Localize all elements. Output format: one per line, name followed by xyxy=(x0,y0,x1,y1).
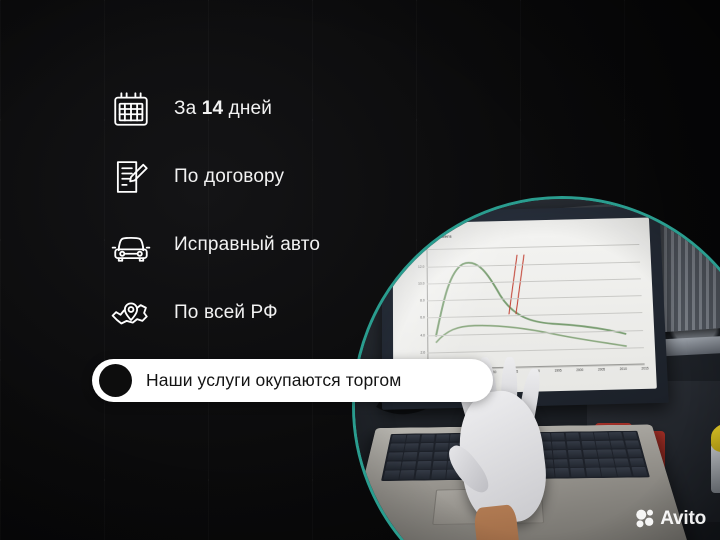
chart-x-tick: 2000 xyxy=(576,369,583,373)
feature-label-condition: Исправный авто xyxy=(174,234,320,256)
feature-item-term: За 14 дней xyxy=(110,88,320,130)
car-front-icon xyxy=(110,224,152,266)
chart-y-tick: 14.0 xyxy=(417,248,424,252)
feature-label-contract: По договору xyxy=(174,166,284,188)
avito-dots-icon xyxy=(635,508,655,528)
avito-logo: Avito xyxy=(635,508,706,528)
bullet-dot-icon xyxy=(99,364,132,397)
chart-x-tick: 2005 xyxy=(598,368,605,372)
feature-label-term: За 14 дней xyxy=(174,98,272,120)
chart-y-tick: 10.0 xyxy=(418,282,425,286)
calendar-icon xyxy=(110,88,152,130)
status-badge: Наши услуги окупаются торгом xyxy=(92,359,493,402)
chart-y-tick: 8.0 xyxy=(420,299,425,303)
chart-x-tick: 1995 xyxy=(554,369,561,373)
chart-y-tick: 12.0 xyxy=(418,265,425,269)
chart-y-tick: 6.0 xyxy=(420,316,425,320)
chart-x-tick: 2010 xyxy=(619,368,626,372)
promo-banner: Best Performers 14.012.010.08.06.04.02.0… xyxy=(0,0,720,540)
gloved-hand xyxy=(455,382,559,540)
feature-item-contract: По договору xyxy=(110,156,320,198)
performance-chart: 14.012.010.08.06.04.02.00.01900197019751… xyxy=(426,245,644,370)
chart-y-tick: 4.0 xyxy=(420,333,425,337)
avito-wordmark: Avito xyxy=(660,509,706,528)
chart-y-tick: 2.0 xyxy=(420,351,425,355)
chart-title: Best Performers xyxy=(413,234,451,240)
contract-pen-icon xyxy=(110,156,152,198)
feature-item-condition: Исправный авто xyxy=(110,224,320,266)
feature-item-coverage: По всей РФ xyxy=(110,292,320,334)
chart-x-tick: 2015 xyxy=(641,367,648,371)
map-pin-russia-icon xyxy=(110,292,152,334)
feature-label-coverage: По всей РФ xyxy=(174,302,278,324)
status-badge-text: Наши услуги окупаются торгом xyxy=(146,370,401,391)
feature-list: За 14 дней По договору Исправный авто xyxy=(110,88,320,334)
